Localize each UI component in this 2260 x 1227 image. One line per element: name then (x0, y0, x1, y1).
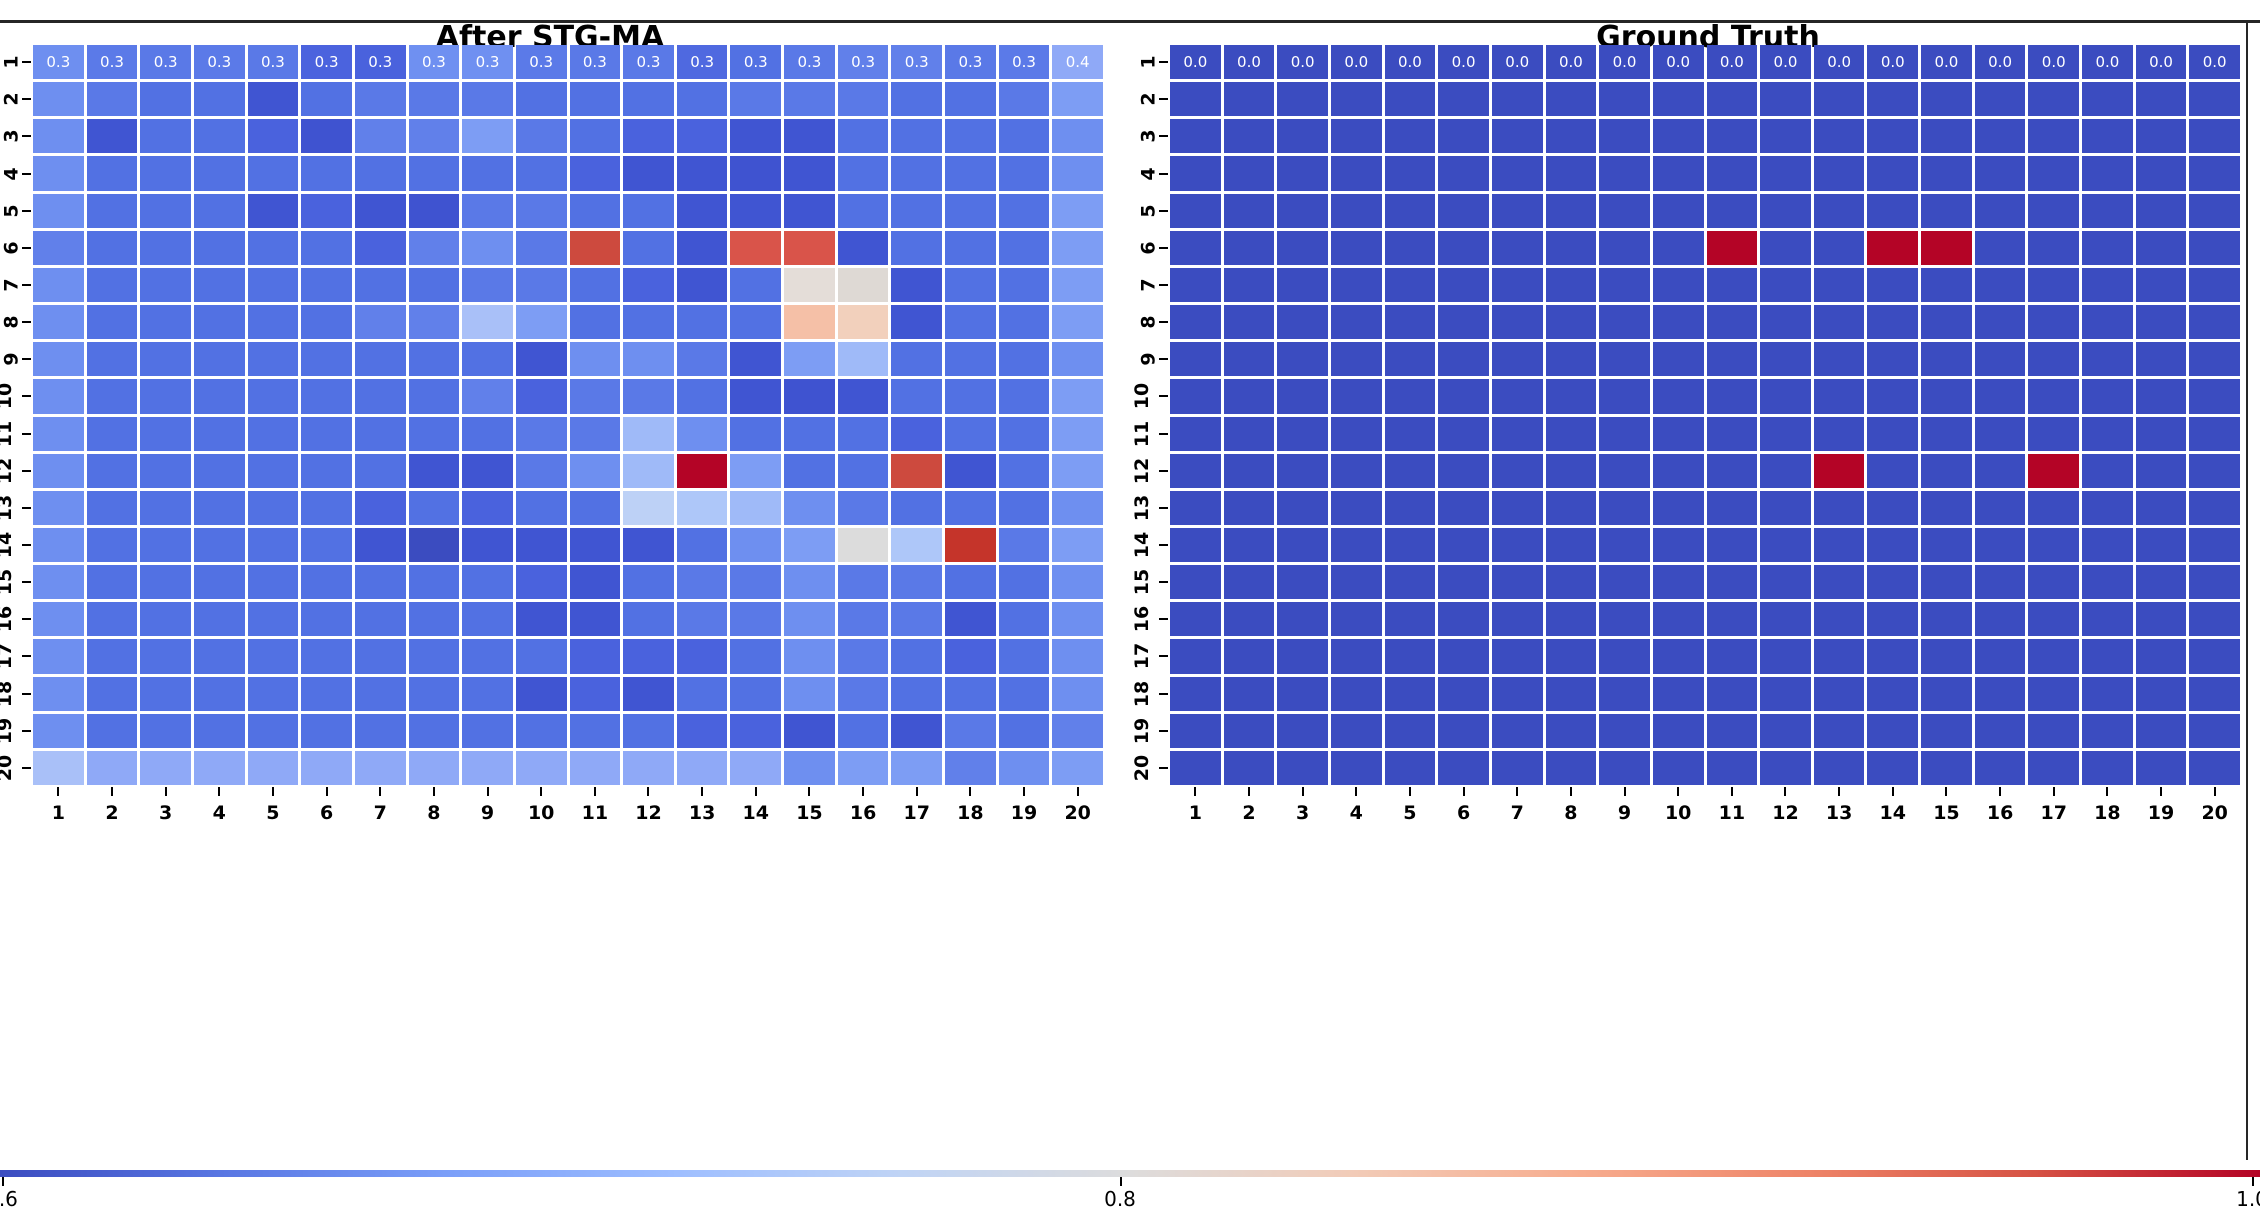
heatmap-cell (516, 342, 567, 376)
heatmap-cell (1867, 714, 1918, 748)
heatmap-cell (1599, 454, 1650, 488)
colorbar-tick-mark (1120, 1177, 1122, 1186)
heatmap-cell: 0.3 (194, 45, 245, 79)
heatmap-cell (1975, 714, 2026, 748)
y-axis-tick-label: 19 (1131, 718, 1153, 744)
heatmap-cell (1921, 602, 1972, 636)
y-axis-tick-label: 4 (1137, 167, 1159, 180)
heatmap-cell (1170, 677, 1221, 711)
heatmap-cell (623, 639, 674, 673)
heatmap-cell (730, 639, 781, 673)
x-axis-tick-label: 13 (677, 796, 728, 830)
heatmap-cell (33, 677, 84, 711)
heatmap-cell (945, 677, 996, 711)
heatmap-cell (2082, 491, 2133, 525)
heatmap-cell (140, 491, 191, 525)
x-axis-tickmarks-left (33, 787, 1103, 796)
y-axis-tick: 14 (0, 528, 21, 562)
heatmap-cell (87, 417, 138, 451)
heatmap-cell (999, 194, 1050, 228)
heatmap-cell (1653, 119, 1704, 153)
heatmap-cell (409, 194, 460, 228)
heatmap-cell (1760, 751, 1811, 785)
x-axis-tick-mark (862, 787, 864, 796)
heatmap-cell (2082, 156, 2133, 190)
heatmap-cell (2136, 268, 2187, 302)
heatmap-cell (355, 528, 406, 562)
heatmap-cell (248, 751, 299, 785)
x-axis-tick-mark (272, 787, 274, 796)
x-axis-tick-label: 4 (1331, 796, 1382, 830)
heatmap-cell (570, 417, 621, 451)
heatmap-cell (1224, 677, 1275, 711)
heatmap-cell (194, 379, 245, 413)
heatmap-cell (1492, 417, 1543, 451)
heatmap-cell (462, 602, 513, 636)
heatmap-cell (1707, 639, 1758, 673)
heatmap-cell: 0.0 (1867, 45, 1918, 79)
heatmap-cell (623, 342, 674, 376)
heatmap-cell (140, 342, 191, 376)
y-axis-tick: 4 (0, 156, 21, 190)
heatmap-cell (516, 677, 567, 711)
heatmap-cell (623, 602, 674, 636)
y-axis-tick-mark (22, 507, 31, 509)
y-axis-tick-label: 15 (0, 569, 16, 595)
y-axis-tick: 15 (0, 565, 21, 599)
heatmap-cell (1170, 194, 1221, 228)
heatmap-cell (1492, 194, 1543, 228)
heatmap-cell (1546, 565, 1597, 599)
y-axis-tick-mark (1159, 730, 1168, 732)
heatmap-cell (570, 602, 621, 636)
heatmap-cell (623, 491, 674, 525)
heatmap-cell (1385, 565, 1436, 599)
heatmap-cell (1492, 602, 1543, 636)
y-axis-tick: 3 (0, 119, 21, 153)
heatmap-cell (1224, 342, 1275, 376)
heatmap-cell (1814, 194, 1865, 228)
heatmap-cell (301, 454, 352, 488)
heatmap-cell (1277, 342, 1328, 376)
heatmap-cell (194, 231, 245, 265)
heatmap-cell (1653, 528, 1704, 562)
heatmap-cell (248, 528, 299, 562)
heatmap-cell (1814, 417, 1865, 451)
colorbar-tick-mark (2, 1177, 4, 1186)
heatmap-cell (2189, 677, 2240, 711)
heatmap-cell (1653, 305, 1704, 339)
heatmap-cell: 0.0 (1653, 45, 1704, 79)
heatmap-cell (462, 565, 513, 599)
heatmap-cell (784, 417, 835, 451)
heatmap-cell (2189, 305, 2240, 339)
heatmap-cell (1975, 602, 2026, 636)
heatmap-cell (1814, 639, 1865, 673)
heatmap-cell (1052, 417, 1103, 451)
heatmap-cell (194, 714, 245, 748)
heatmap-cell (1760, 156, 1811, 190)
heatmap-cell (1867, 454, 1918, 488)
heatmap-cell (194, 602, 245, 636)
y-axis-tick-label: 18 (1131, 680, 1153, 706)
heatmap-cell (2189, 342, 2240, 376)
heatmap-cell (2028, 491, 2079, 525)
heatmap-cell (999, 714, 1050, 748)
heatmap-cell (999, 156, 1050, 190)
heatmap-cell (1385, 231, 1436, 265)
y-axis-tick-label: 3 (1137, 130, 1159, 143)
heatmap-cell (677, 565, 728, 599)
heatmap-cell (1975, 82, 2026, 116)
heatmap-cell (838, 528, 889, 562)
heatmap-cell (248, 231, 299, 265)
heatmap-cell (1599, 268, 1650, 302)
heatmap-cell (1224, 751, 1275, 785)
y-axis-tick-label: 18 (0, 680, 16, 706)
heatmap-cell (1331, 156, 1382, 190)
heatmap-cell (355, 342, 406, 376)
x-axis-tick-label: 20 (1052, 796, 1103, 830)
heatmap-cell (1546, 342, 1597, 376)
heatmap-cell (891, 379, 942, 413)
heatmap-cell (1277, 231, 1328, 265)
heatmap-cell (838, 231, 889, 265)
heatmap-cell (462, 751, 513, 785)
heatmap-cell (891, 268, 942, 302)
heatmap-cell (516, 417, 567, 451)
heatmap-cell (838, 417, 889, 451)
heatmap-cell (1599, 639, 1650, 673)
heatmap-cell (194, 491, 245, 525)
x-axis-tick-label: 4 (194, 796, 245, 830)
heatmap-cell (945, 565, 996, 599)
heatmap-cell (2189, 714, 2240, 748)
heatmap-cell (730, 231, 781, 265)
heatmap-cell (945, 119, 996, 153)
heatmap-cell (1867, 602, 1918, 636)
heatmap-cell (1975, 379, 2026, 413)
heatmap-cell (2082, 528, 2133, 562)
heatmap-cell (1814, 528, 1865, 562)
y-axis-tick: 8 (0, 305, 21, 339)
heatmap-cell (1277, 677, 1328, 711)
heatmap-cell (140, 454, 191, 488)
heatmap-cell (1653, 156, 1704, 190)
heatmap-cell (570, 231, 621, 265)
heatmap-cell (730, 156, 781, 190)
heatmap-cell (2028, 119, 2079, 153)
heatmap-cell (194, 639, 245, 673)
heatmap-cell (1814, 379, 1865, 413)
heatmap-cell (1867, 82, 1918, 116)
heatmap-cell (1653, 454, 1704, 488)
heatmap-cell (462, 677, 513, 711)
heatmap-cell (677, 194, 728, 228)
heatmap-cell (2189, 491, 2240, 525)
x-axis-tick-label: 12 (1760, 796, 1811, 830)
heatmap-cell (355, 194, 406, 228)
heatmap-cell (2028, 305, 2079, 339)
heatmap-cell (409, 639, 460, 673)
heatmap-cell (355, 602, 406, 636)
heatmap-cell (1707, 268, 1758, 302)
heatmap-cell (1052, 268, 1103, 302)
heatmap-cell: 0.0 (1277, 45, 1328, 79)
heatmap-cell (1867, 639, 1918, 673)
heatmap-cell (730, 677, 781, 711)
heatmap-cell (677, 268, 728, 302)
heatmap-cell (33, 714, 84, 748)
heatmap-cell (1385, 491, 1436, 525)
x-axis-tick-mark (1409, 787, 1411, 796)
y-axis-tick: 5 (1118, 194, 1158, 228)
x-axis-tick-mark (594, 787, 596, 796)
y-axis-tick-mark (1159, 470, 1168, 472)
heatmap-cell (140, 305, 191, 339)
y-axis-tick-label: 7 (0, 278, 22, 291)
heatmap-cell (1867, 268, 1918, 302)
heatmap-cell (1170, 417, 1221, 451)
x-axis-tick-label: 3 (140, 796, 191, 830)
heatmap-cell (1546, 751, 1597, 785)
x-axis-tick-mark (1302, 787, 1304, 796)
heatmap-cell (1438, 82, 1489, 116)
heatmap-cell (2189, 82, 2240, 116)
colorbar-tick-label: 1.0 (2236, 1187, 2260, 1211)
heatmap-cell (1599, 602, 1650, 636)
y-axis-tick-mark (1159, 618, 1168, 620)
heatmap-cell (1331, 454, 1382, 488)
heatmap-cell (1224, 714, 1275, 748)
y-axis-tick-mark (22, 61, 31, 63)
heatmap-cell (516, 602, 567, 636)
heatmap-cell (1052, 528, 1103, 562)
heatmap-cell (1814, 119, 1865, 153)
heatmap-cell (355, 82, 406, 116)
heatmap-cell (33, 751, 84, 785)
heatmap-cell (1867, 231, 1918, 265)
y-axis-tick: 1 (0, 45, 21, 79)
heatmap-cell: 0.3 (945, 45, 996, 79)
heatmap-cell (140, 82, 191, 116)
heatmap-cell (516, 268, 567, 302)
heatmap-cell (1867, 677, 1918, 711)
heatmap-cell (1867, 417, 1918, 451)
x-axis-tick-mark (1463, 787, 1465, 796)
heatmap-cell (140, 714, 191, 748)
heatmap-cell (623, 565, 674, 599)
heatmap-cell (891, 677, 942, 711)
x-axis-tick-mark (808, 787, 810, 796)
heatmap-cell (1975, 639, 2026, 673)
heatmap-cell (87, 639, 138, 673)
heatmap-cell (1707, 454, 1758, 488)
heatmap-cell (1331, 565, 1382, 599)
heatmap-cell (1224, 417, 1275, 451)
heatmap-cell (301, 677, 352, 711)
heatmap-cell (301, 231, 352, 265)
y-axis-tick-label: 20 (0, 755, 16, 781)
heatmap-cell (1814, 305, 1865, 339)
heatmap-cell (301, 417, 352, 451)
heatmap-cell (516, 82, 567, 116)
heatmap-cell (33, 305, 84, 339)
heatmap-cell (623, 528, 674, 562)
y-axis-tick: 19 (1118, 714, 1158, 748)
heatmap-cell (730, 417, 781, 451)
heatmap-cell (1052, 565, 1103, 599)
heatmap-cell (891, 565, 942, 599)
heatmap-cell (570, 677, 621, 711)
y-axis-tick-label: 12 (1131, 457, 1153, 483)
heatmap-cell (140, 677, 191, 711)
y-axis-tick-label: 1 (1137, 55, 1159, 68)
heatmap-cell (1170, 305, 1221, 339)
x-axis-tick-mark (1248, 787, 1250, 796)
heatmap-cell (248, 268, 299, 302)
heatmap-cell (2082, 639, 2133, 673)
heatmap-cell (1975, 156, 2026, 190)
y-axis-tick: 4 (1118, 156, 1158, 190)
heatmap-cell (1707, 119, 1758, 153)
heatmap-cell (2136, 119, 2187, 153)
heatmap-cell (838, 714, 889, 748)
heatmap-cell (1385, 677, 1436, 711)
heatmap-cell (2136, 156, 2187, 190)
heatmap-cell (1170, 602, 1221, 636)
heatmap-cell (462, 342, 513, 376)
heatmap-cell (2136, 379, 2187, 413)
heatmap-cell (33, 82, 84, 116)
heatmap-cell (999, 268, 1050, 302)
y-axis-tick: 9 (0, 342, 21, 376)
heatmap-cell (1438, 565, 1489, 599)
heatmap-cell (1546, 119, 1597, 153)
heatmap-cell (677, 714, 728, 748)
heatmap-cell (1277, 379, 1328, 413)
heatmap-cell (409, 156, 460, 190)
y-axis-tick-label: 11 (1131, 420, 1153, 446)
y-axis-tick: 11 (0, 417, 21, 451)
heatmap-cell (2028, 417, 2079, 451)
heatmap-cell (1814, 677, 1865, 711)
heatmap-cell (677, 342, 728, 376)
heatmap-cell (516, 231, 567, 265)
heatmap-cell (1438, 528, 1489, 562)
x-axis-tick-label: 7 (355, 796, 406, 830)
y-axis-tick-mark (1159, 210, 1168, 212)
heatmap-cell (784, 751, 835, 785)
y-axis-tick-mark (22, 433, 31, 435)
heatmap-cell (1921, 528, 1972, 562)
x-axis-tick-mark (1023, 787, 1025, 796)
heatmap-cell (1707, 342, 1758, 376)
heatmap-cell (1438, 156, 1489, 190)
heatmap-cell (140, 639, 191, 673)
heatmap-cell (570, 194, 621, 228)
heatmap-cell (945, 639, 996, 673)
heatmap-cell (2136, 491, 2187, 525)
heatmap-cell (194, 454, 245, 488)
heatmap-cell (1492, 565, 1543, 599)
heatmap-cell (462, 417, 513, 451)
heatmap-cell (2028, 82, 2079, 116)
heatmap-cell (2189, 417, 2240, 451)
heatmap-cell (2082, 231, 2133, 265)
x-axis-tick-label: 19 (999, 796, 1050, 830)
heatmap-cell (1277, 491, 1328, 525)
heatmap-cell (1975, 565, 2026, 599)
heatmap-cell (1867, 342, 1918, 376)
x-axis-tick-label: 2 (1224, 796, 1275, 830)
heatmap-cell (1707, 82, 1758, 116)
heatmap-cell: 0.3 (301, 45, 352, 79)
heatmap-cell (409, 82, 460, 116)
heatmap-cell (462, 639, 513, 673)
y-axis-tick: 2 (1118, 82, 1158, 116)
heatmap-cell (2136, 714, 2187, 748)
x-axis-tick-mark (326, 787, 328, 796)
heatmap-cell (1599, 305, 1650, 339)
x-axis-tick-mark (1355, 787, 1357, 796)
heatmap-cell (409, 342, 460, 376)
heatmap-cell (1385, 751, 1436, 785)
heatmap-cell: 0.3 (570, 45, 621, 79)
heatmap-cell: 0.0 (1170, 45, 1221, 79)
heatmap-cell (301, 602, 352, 636)
y-axis-tick-mark (1159, 507, 1168, 509)
heatmap-cell (2082, 268, 2133, 302)
heatmap-cell (891, 231, 942, 265)
heatmap-cell (2189, 639, 2240, 673)
heatmap-cell (194, 565, 245, 599)
heatmap-cell (945, 379, 996, 413)
heatmap-cell (1224, 156, 1275, 190)
heatmap-cell (140, 528, 191, 562)
heatmap-cell (87, 491, 138, 525)
colorbar-tick-label: 0.6 (0, 1187, 18, 1211)
heatmap-cell (1546, 528, 1597, 562)
x-axis-ticklabels-right: 1234567891011121314151617181920 (1170, 796, 2240, 830)
heatmap-cell (1331, 119, 1382, 153)
y-axis-tick-label: 4 (0, 167, 22, 180)
heatmap-cell (1546, 82, 1597, 116)
heatmap-cell (1653, 602, 1704, 636)
heatmap-cell (1814, 231, 1865, 265)
heatmap-cell (730, 305, 781, 339)
x-axis-tick-label: 14 (730, 796, 781, 830)
heatmap-cell (784, 231, 835, 265)
heatmap-cell (409, 751, 460, 785)
heatmap-cell (2189, 565, 2240, 599)
x-axis-tick-mark (701, 787, 703, 796)
x-axis-tick-mark (57, 787, 59, 796)
heatmap-cell (516, 565, 567, 599)
heatmap-cell (730, 454, 781, 488)
heatmap-cell (1492, 342, 1543, 376)
heatmap-cell (1599, 156, 1650, 190)
heatmap-cell (33, 342, 84, 376)
heatmap-cell (1814, 156, 1865, 190)
x-axis-tick-label: 8 (409, 796, 460, 830)
heatmap-cell (945, 602, 996, 636)
heatmap-cell (140, 231, 191, 265)
heatmap-cell (355, 677, 406, 711)
heatmap-cell (1492, 231, 1543, 265)
heatmap-cell (1599, 417, 1650, 451)
heatmap-cell (891, 454, 942, 488)
